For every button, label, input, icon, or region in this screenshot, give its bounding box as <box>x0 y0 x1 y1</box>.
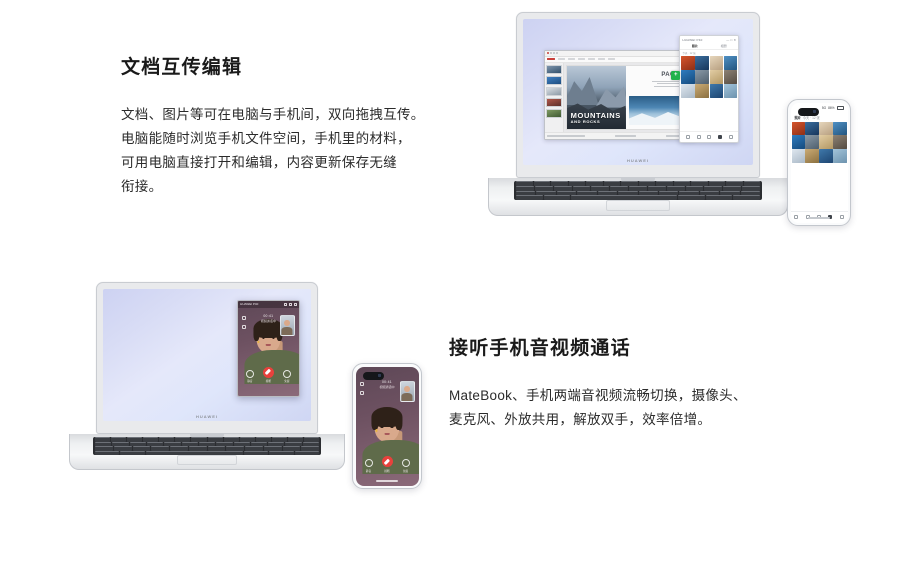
photo-thumbnail[interactable] <box>724 56 738 70</box>
ribbon-tab-file[interactable] <box>547 58 555 61</box>
photo-thumbnail[interactable] <box>695 56 709 70</box>
feature-body-document-transfer: 文档、图片等可在电脑与手机间，双向拖拽互传。 电脑能随时浏览手机文件空间，手机里… <box>121 103 501 199</box>
presentation-window[interactable]: MOUNTAINS AND ROCKS PAGE.1 + <box>544 50 696 141</box>
slide-thumbnail[interactable] <box>546 65 561 74</box>
slide-hero-image: MOUNTAINS AND ROCKS <box>567 66 625 130</box>
feature-body-line: 电脑能随时浏览手机文件空间，手机里的材料， <box>121 127 501 151</box>
slide-thumbnail[interactable] <box>546 98 561 107</box>
photo-thumbnail[interactable] <box>710 70 724 84</box>
laptop-base <box>69 434 345 470</box>
laptop-trackpad[interactable] <box>606 200 670 211</box>
home-indicator <box>808 217 830 219</box>
slide-caption: MOUNTAINS AND ROCKS <box>571 112 621 124</box>
mirror-window-controls[interactable]: — □ ✕ <box>726 38 736 42</box>
photo-thumbnail[interactable] <box>819 122 832 135</box>
home-indicator <box>376 480 398 482</box>
close-icon[interactable] <box>294 303 297 306</box>
participant-eye <box>391 426 393 427</box>
photo-thumbnail[interactable] <box>792 149 805 162</box>
microphone-icon <box>246 370 254 378</box>
feature-body-line: 衔接。 <box>121 175 501 199</box>
end-call-label: 挂断 <box>384 469 389 473</box>
ribbon-tab-home[interactable] <box>558 58 565 61</box>
phone-screen[interactable]: 5G 78% 00:41 视频通话中 静音 <box>356 367 419 486</box>
mirror-tab-photos[interactable]: 照片 <box>692 44 698 48</box>
call-ui: 5G 78% 00:41 视频通话中 静音 <box>356 367 419 486</box>
laptop-keyboard[interactable] <box>93 437 321 455</box>
photo-thumbnail[interactable] <box>681 70 695 84</box>
slide-caption-line2: AND ROCKS <box>571 120 621 124</box>
participant-eye <box>381 426 383 427</box>
phone-video-call-device: 5G 78% 00:41 视频通话中 静音 <box>352 363 422 489</box>
speaker-icon <box>283 370 291 378</box>
slide-thumbnail-panel[interactable] <box>545 63 564 133</box>
self-view-face <box>284 320 290 327</box>
undo-icon[interactable] <box>553 52 555 54</box>
photo-thumbnail[interactable] <box>819 149 832 162</box>
laptop-base <box>488 178 788 216</box>
mute-label: 静音 <box>366 469 371 473</box>
nav-me-icon[interactable] <box>840 215 844 219</box>
slide-canvas[interactable]: MOUNTAINS AND ROCKS PAGE.1 + <box>564 63 694 133</box>
participant-hair <box>371 407 403 427</box>
ribbon-tab-transition[interactable] <box>588 58 595 61</box>
mirror-tab-albums[interactable]: 相册 <box>721 44 727 48</box>
photo-thumbnail[interactable] <box>792 135 805 148</box>
laptop-lid: 00:41 视频通话中 静音 <box>96 282 318 434</box>
photo-thumbnail[interactable] <box>792 122 805 135</box>
presentation-body: MOUNTAINS AND ROCKS PAGE.1 + <box>545 63 695 133</box>
photo-thumbnail[interactable] <box>724 84 738 98</box>
photo-thumbnail[interactable] <box>695 70 709 84</box>
speaker-label: 免提 <box>284 379 289 383</box>
ribbon-tab-animation[interactable] <box>598 58 605 61</box>
call-window-titlebar[interactable]: HUAWEI P40 <box>238 301 298 308</box>
participant-mouth <box>384 433 390 435</box>
participant-earring <box>257 341 259 343</box>
photo-thumbnail[interactable] <box>695 84 709 98</box>
nav-photos-icon[interactable] <box>794 215 798 219</box>
mute-label: 静音 <box>247 379 252 383</box>
photo-thumbnail[interactable] <box>833 135 846 148</box>
call-mirror-window[interactable]: 00:41 视频通话中 静音 <box>237 300 299 398</box>
slide-thumbnail[interactable] <box>546 109 561 118</box>
speaker-button[interactable]: 免提 <box>283 370 291 384</box>
ribbon-tab-design[interactable] <box>578 58 585 61</box>
laptop-brand-label: HUAWEI <box>523 158 753 163</box>
effects-icon[interactable] <box>242 325 246 329</box>
laptop-lid: MOUNTAINS AND ROCKS PAGE.1 + <box>516 12 760 178</box>
save-icon[interactable] <box>550 52 552 54</box>
photo-thumbnail[interactable] <box>833 122 846 135</box>
photo-thumbnail[interactable] <box>681 56 695 70</box>
feature-body-answer-call: MateBook、手机两端音视频流畅切换，摄像头、 麦克风、外放共用，解放双手，… <box>449 384 839 432</box>
speaker-icon <box>402 459 410 467</box>
favorite-icon[interactable] <box>697 135 701 139</box>
end-call-button[interactable]: 挂断 <box>263 367 274 384</box>
ribbon-tab-insert[interactable] <box>568 58 575 61</box>
more-icon[interactable] <box>729 135 733 139</box>
end-call-icon <box>263 367 274 378</box>
self-view-pip[interactable] <box>400 381 415 402</box>
drag-drop-badge-icon: + <box>671 71 680 80</box>
promo-page: 文档互传编辑 文档、图片等可在电脑与手机间，双向拖拽互传。 电脑能随时浏览手机文… <box>0 0 900 582</box>
self-view-face <box>404 386 410 393</box>
app-logo-icon <box>547 52 549 54</box>
laptop-document-transfer: MOUNTAINS AND ROCKS PAGE.1 + <box>516 12 788 216</box>
slide-thumbnail[interactable] <box>546 87 561 96</box>
feature-block-answer-call: 接听手机音视频通话 MateBook、手机两端音视频流畅切换，摄像头、 麦克风、… <box>449 337 839 432</box>
ribbon-tab-view[interactable] <box>608 58 615 61</box>
delete-icon[interactable] <box>718 135 722 139</box>
laptop-trackpad[interactable] <box>177 455 237 465</box>
participant-mouth <box>266 344 271 346</box>
front-camera-cutout-icon <box>363 372 384 380</box>
feature-body-line: 文档、图片等可在电脑与手机间，双向拖拽互传。 <box>121 103 501 127</box>
photo-thumbnail[interactable] <box>833 149 846 162</box>
laptop-brand-label: HUAWEI <box>103 414 311 419</box>
photo-thumbnail[interactable] <box>710 84 724 98</box>
minimize-icon[interactable] <box>284 303 287 306</box>
laptop-screen: 00:41 视频通话中 静音 <box>103 289 311 421</box>
redo-icon[interactable] <box>556 52 558 54</box>
photo-thumbnail[interactable] <box>724 70 738 84</box>
call-window-title: HUAWEI P40 <box>240 302 258 306</box>
microphone-icon <box>365 459 373 467</box>
call-ui: 00:41 视频通话中 静音 <box>238 301 298 397</box>
status-signal: 5G <box>822 106 826 110</box>
feature-heading-document-transfer: 文档互传编辑 <box>121 56 501 81</box>
call-controls[interactable]: 静音 挂断 免提 <box>238 367 298 384</box>
photo-thumbnail[interactable] <box>710 56 724 70</box>
photo-thumbnail[interactable] <box>805 122 818 135</box>
mute-button[interactable]: 静音 <box>365 459 373 473</box>
phone-screen[interactable]: 5G 86% 照片 今天 · 12 张 <box>791 103 848 223</box>
call-window-controls[interactable] <box>284 303 297 306</box>
mirror-action-dock[interactable] <box>680 131 738 142</box>
slide-body-placeholder <box>632 81 686 87</box>
mirror-empty-space <box>680 98 738 131</box>
status-battery-percent: 86% <box>828 106 834 110</box>
feature-heading-answer-call: 接听手机音视频通话 <box>449 337 839 362</box>
mute-button[interactable]: 静音 <box>246 370 254 384</box>
feature-block-document-transfer: 文档互传编辑 文档、图片等可在电脑与手机间，双向拖拽互传。 电脑能随时浏览手机文… <box>121 56 501 199</box>
laptop-screen: MOUNTAINS AND ROCKS PAGE.1 + <box>523 19 753 165</box>
maximize-icon[interactable] <box>289 303 292 306</box>
participant-face <box>374 410 400 442</box>
end-call-label: 挂断 <box>266 379 271 383</box>
speaker-label: 免提 <box>403 469 408 473</box>
feature-body-line: MateBook、手机两端音视频流畅切换，摄像头、 <box>449 384 839 408</box>
mirror-photo-grid[interactable] <box>680 56 738 98</box>
mirror-title: HUAWEI P40 <box>682 38 702 42</box>
mirror-gallery-tabs[interactable]: 照片 相册 <box>680 43 738 50</box>
presentation-statusbar <box>545 132 695 139</box>
slide-thumbnail[interactable] <box>546 76 561 85</box>
photo-thumbnail[interactable] <box>805 149 818 162</box>
slide: MOUNTAINS AND ROCKS PAGE.1 + <box>566 65 692 131</box>
gallery-photo-grid[interactable] <box>791 122 848 163</box>
feature-body-line: 麦克风、外放共用，解放双手，效率倍增。 <box>449 408 839 432</box>
photo-thumbnail[interactable] <box>805 135 818 148</box>
end-call-icon <box>382 456 393 467</box>
effects-icon[interactable] <box>360 391 364 395</box>
edit-icon[interactable] <box>707 135 711 139</box>
mirror-titlebar: HUAWEI P40 — □ ✕ <box>680 36 738 43</box>
phone-gallery-device: 5G 86% 照片 今天 · 12 张 <box>787 99 851 226</box>
self-view-pip[interactable] <box>280 315 295 336</box>
front-camera-cutout-icon <box>798 108 819 116</box>
laptop-video-call: 00:41 视频通话中 静音 <box>96 282 345 470</box>
feature-body-line: 可用电脑直接打开和编辑，内容更新保存无缝 <box>121 151 501 175</box>
self-view-torso <box>401 393 412 401</box>
speaker-button[interactable]: 免提 <box>402 459 410 473</box>
self-view-torso <box>281 327 292 335</box>
end-call-button[interactable]: 挂断 <box>382 456 393 473</box>
participant-eye <box>262 337 264 338</box>
phone-mirror-window[interactable]: HUAWEI P40 — □ ✕ 照片 相册 今天 · 12 张 <box>679 35 739 143</box>
photo-thumbnail[interactable] <box>681 84 695 98</box>
participant-face <box>256 322 280 353</box>
share-icon[interactable] <box>686 135 690 139</box>
photo-thumbnail[interactable] <box>819 135 832 148</box>
laptop-keyboard[interactable] <box>514 181 762 200</box>
participant-earring <box>376 429 378 431</box>
call-controls[interactable]: 静音 挂断 免提 <box>356 456 419 473</box>
battery-icon <box>837 106 844 110</box>
